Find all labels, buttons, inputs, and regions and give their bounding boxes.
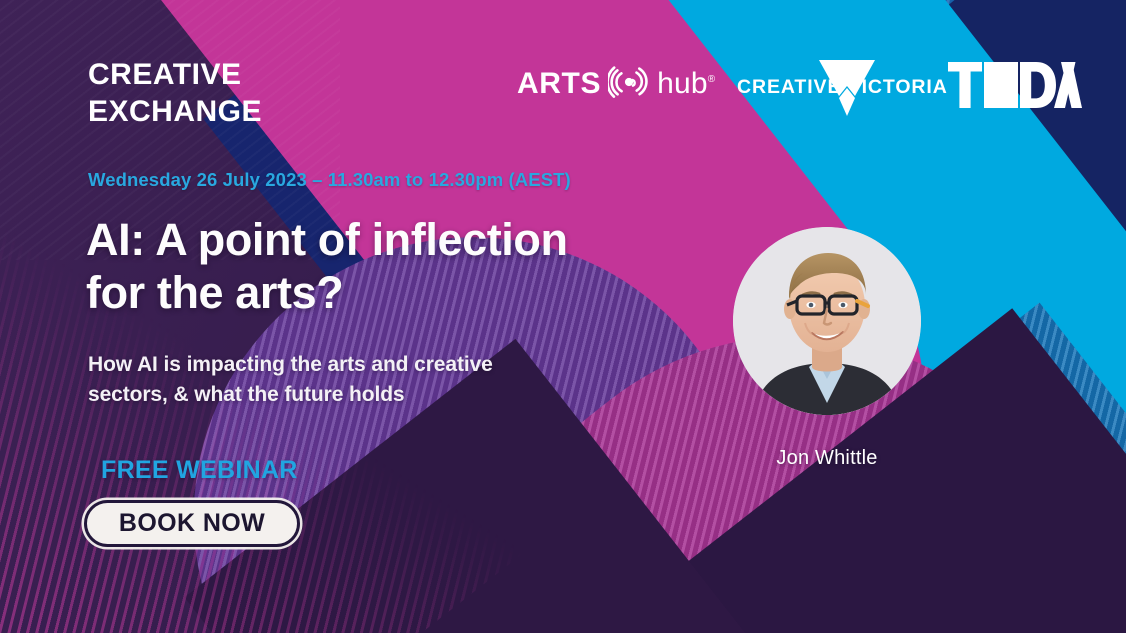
brand-line-1: CREATIVE xyxy=(88,56,262,93)
creative-victoria-logo[interactable]: CREATIVE VICTORIA xyxy=(737,72,948,102)
subtitle-line-2: sectors, & what the future holds xyxy=(88,380,493,410)
victoria-triangle-icon xyxy=(817,56,877,118)
subtitle-line-1: How AI is impacting the arts and creativ… xyxy=(88,350,493,380)
page-title: AI: A point of inflection for the arts? xyxy=(86,214,568,319)
book-now-label: BOOK NOW xyxy=(119,509,265,538)
ripple-icon xyxy=(608,61,650,108)
artshub-logo[interactable]: ARTS hub® xyxy=(517,61,715,107)
book-now-button[interactable]: BOOK NOW xyxy=(84,500,300,547)
event-subtitle: How AI is impacting the arts and creativ… xyxy=(88,350,493,411)
headline-line-2: for the arts? xyxy=(86,267,568,320)
today-logo[interactable] xyxy=(948,62,1082,108)
artshub-wordmark-bold: ARTS xyxy=(517,67,601,101)
brand-lockup: CREATIVE EXCHANGE xyxy=(88,56,262,130)
free-webinar-label: FREE WEBINAR xyxy=(101,456,298,485)
avatar xyxy=(733,227,921,415)
trademark-mark: ® xyxy=(708,74,716,85)
speaker-portrait xyxy=(733,227,921,415)
artshub-wordmark-light: hub® xyxy=(657,67,715,101)
event-datetime: Wednesday 26 July 2023 – 11.30am to 12.3… xyxy=(88,169,571,191)
webinar-poster: CREATIVE EXCHANGE Wednesday 26 July 2023… xyxy=(0,0,1126,633)
poster-content: CREATIVE EXCHANGE Wednesday 26 July 2023… xyxy=(0,0,1126,633)
brand-line-2: EXCHANGE xyxy=(88,93,262,130)
speaker-name: Jon Whittle xyxy=(733,447,921,470)
headline-line-1: AI: A point of inflection xyxy=(86,214,568,267)
